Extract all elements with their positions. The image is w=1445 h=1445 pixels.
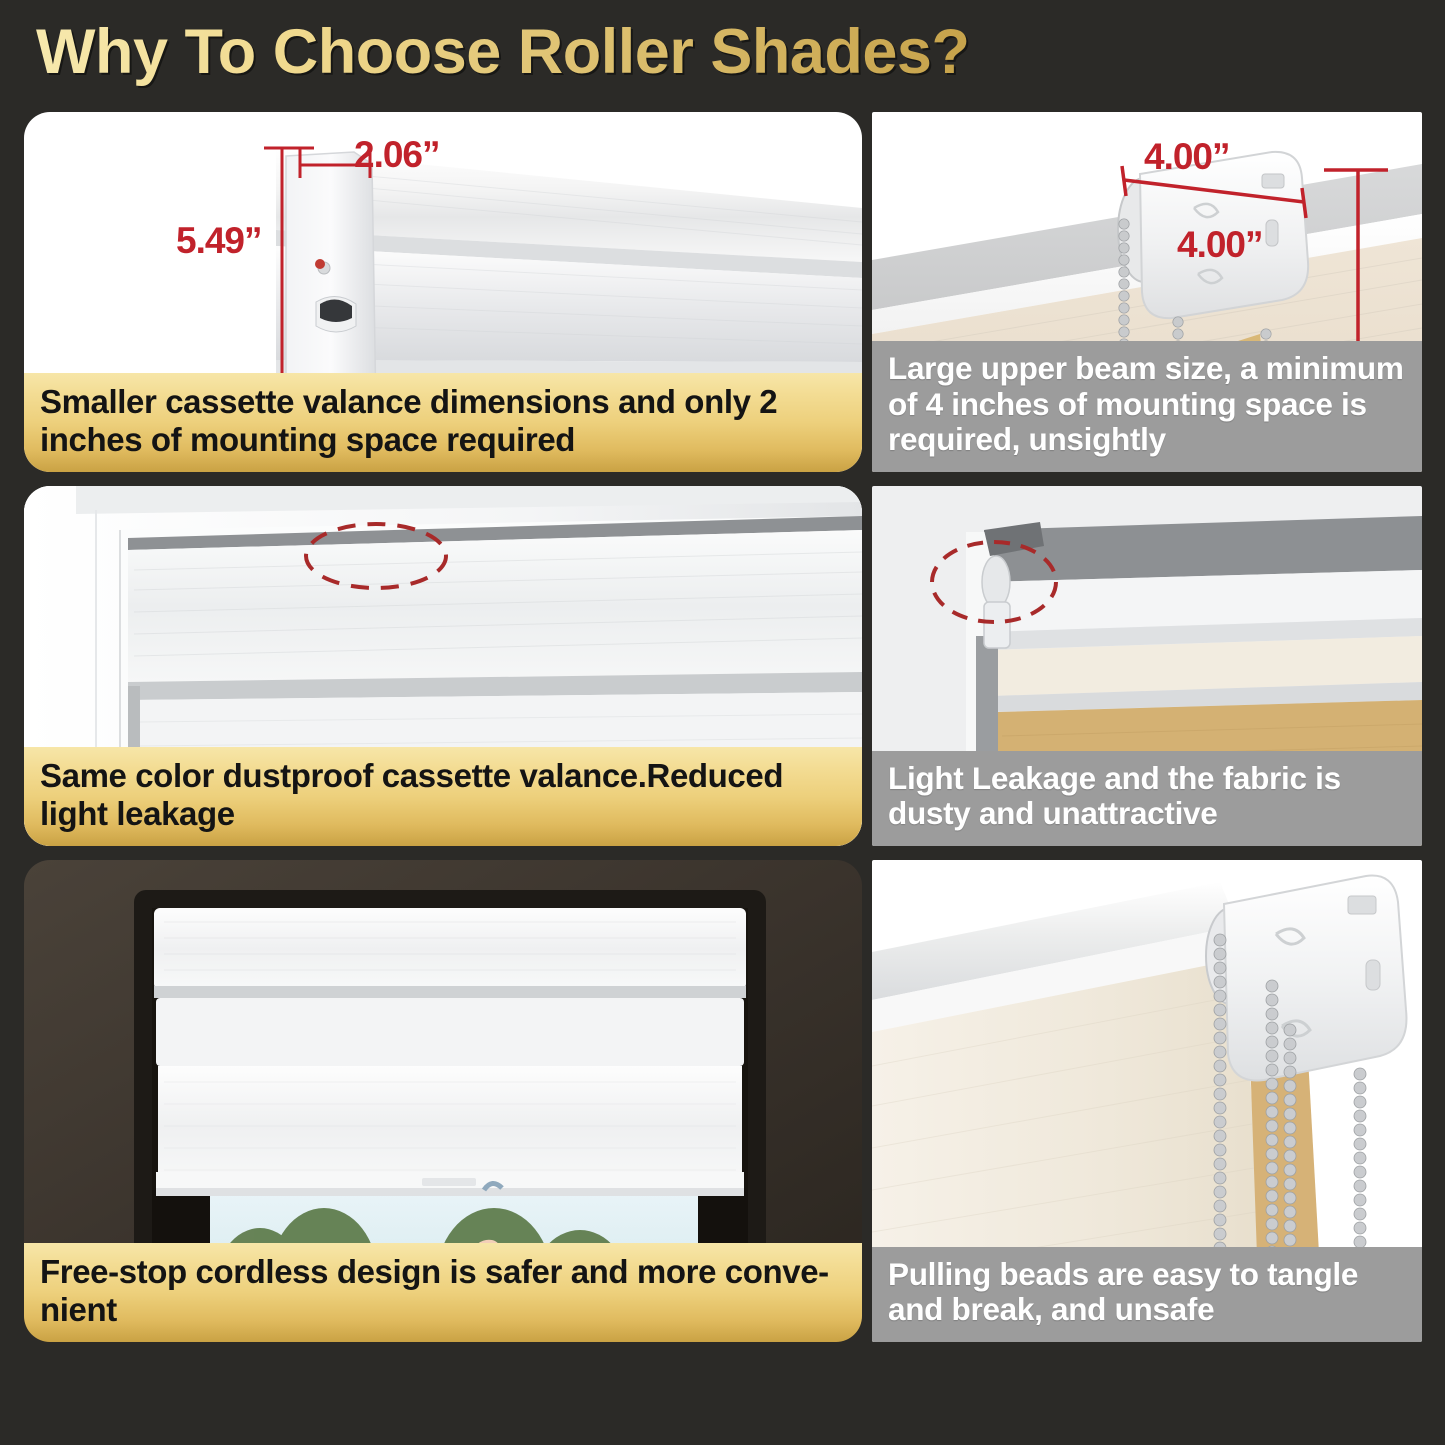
page-title: Why To Choose Roller Shades?: [36, 16, 969, 88]
panel-caption-light-leakage: Light Leakage and the fabric is dusty an…: [872, 751, 1422, 846]
header: Why To Choose Roller Shades?: [0, 0, 1445, 108]
panel-caption-cassette-valance: Smaller cassette valance dimensions and …: [24, 373, 862, 472]
panel-dustproof-valance[interactable]: smaller gap Same color dustproof cassett…: [24, 486, 862, 846]
panel-caption-pulling-beads: Pulling beads are easy to tangle and bre…: [872, 1247, 1422, 1342]
height-dimension-label: 5.49”: [176, 220, 262, 262]
panel-light-leakage[interactable]: Large gap Light Leakage and the fabric i…: [872, 486, 1422, 846]
beam-height-label: 4.00”: [1177, 224, 1263, 266]
panel-pulling-beads[interactable]: Pulling beads are easy to tangle and bre…: [872, 860, 1422, 1342]
beam-width-label: 4.00”: [1144, 136, 1230, 178]
panel-caption-large-beam: Large upper beam size, a minimum of 4 in…: [872, 341, 1422, 472]
panel-caption-dustproof-valance: Same color dustproof cassette valance.Re…: [24, 747, 862, 846]
panel-cassette-valance-dimensions[interactable]: 2.06” 5.49” Smaller cassette valance dim…: [24, 112, 862, 472]
panel-caption-free-stop-cordless: Free-stop cordless design is safer and m…: [24, 1243, 862, 1342]
panel-large-upper-beam[interactable]: 4.00” 4.00” Large upper beam size, a min…: [872, 112, 1422, 472]
width-dimension-label: 2.06”: [354, 134, 440, 176]
panel-free-stop-cordless[interactable]: Free-stop cordless design is safer and m…: [24, 860, 862, 1342]
